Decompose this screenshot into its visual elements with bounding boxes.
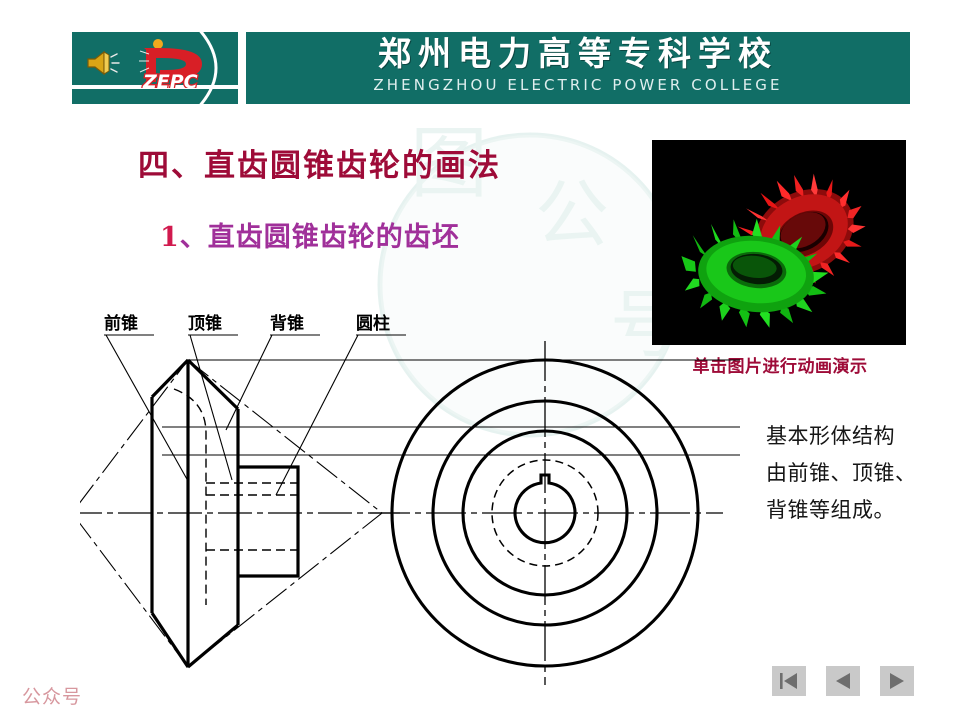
slide-canvas: 图 公 号 <box>0 0 960 720</box>
label-cylinder: 圆柱 <box>356 313 390 334</box>
bevel-gear-blank-drawing: 前锥 顶锥 背锥 圆柱 <box>80 305 760 705</box>
corner-watermark: 公众号 <box>22 682 82 709</box>
section-heading: 四、直齿圆锥齿轮的画法 <box>138 140 501 185</box>
body-note: 基本形体结构 由前锥、顶锥、 背锥等组成。 <box>766 418 956 529</box>
subsection-text: 、直齿圆锥齿轮的齿坯 <box>180 222 460 253</box>
body-note-line-1: 基本形体结构 <box>766 418 956 455</box>
subsection-heading: 1、直齿圆锥齿轮的齿坯 <box>160 215 460 254</box>
projection-lines <box>162 360 740 455</box>
svg-text:公: 公 <box>535 172 609 258</box>
next-slide-icon <box>887 672 907 690</box>
previous-slide-icon <box>833 672 853 690</box>
header-panel-divider <box>238 32 246 104</box>
header-banner: ZEPC 郑州电力高等专科学校 ZHENGZHOU ELECTRIC POWER… <box>72 32 910 104</box>
hidden-lines <box>174 389 298 605</box>
zepc-swoosh-icon: ZEPC <box>116 38 220 88</box>
slide-navigation <box>772 666 920 698</box>
logo-brand-text: ZEPC <box>142 71 198 88</box>
leader-lines <box>104 335 406 495</box>
logo-panel: ZEPC <box>72 32 238 104</box>
label-tip-cone: 顶锥 <box>188 313 222 334</box>
body-note-line-2: 由前锥、顶锥、 <box>766 455 956 492</box>
body-note-line-3: 背锥等组成。 <box>766 492 956 529</box>
label-back-cone: 背锥 <box>270 313 304 334</box>
school-name-en: ZHENGZHOU ELECTRIC POWER COLLEGE <box>246 74 910 96</box>
label-front-cone: 前锥 <box>104 313 138 334</box>
next-slide-button[interactable] <box>880 666 914 696</box>
previous-slide-button[interactable] <box>826 666 860 696</box>
subsection-number: 1 <box>160 222 180 253</box>
circular-view <box>370 341 723 685</box>
first-slide-icon <box>779 672 799 690</box>
first-slide-button[interactable] <box>772 666 806 696</box>
speaker-icon <box>86 50 120 76</box>
school-name-cn: 郑州电力高等专科学校 <box>246 34 910 74</box>
school-title-panel: 郑州电力高等专科学校 ZHENGZHOU ELECTRIC POWER COLL… <box>246 32 910 104</box>
drawing-labels: 前锥 顶锥 背锥 圆柱 <box>104 313 390 334</box>
